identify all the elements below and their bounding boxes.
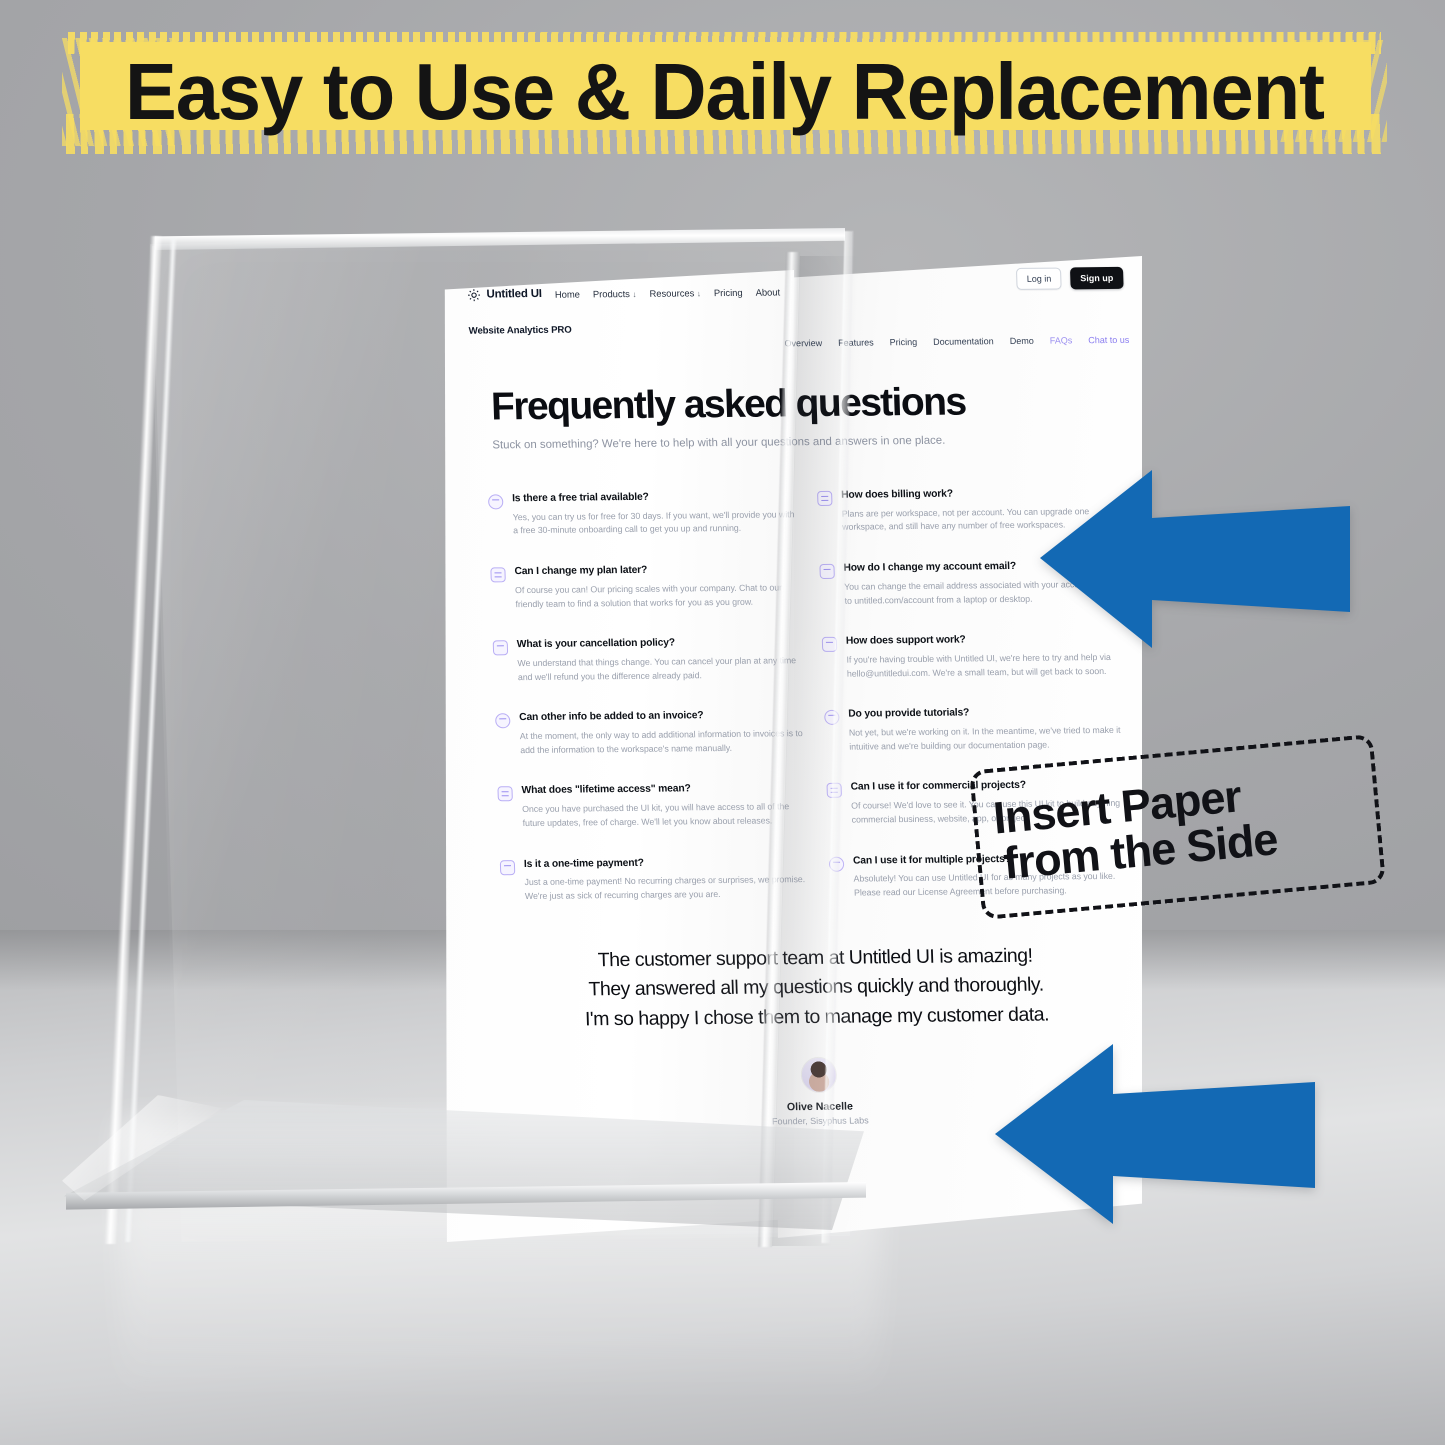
blue-arrow-left-top: [1040, 460, 1350, 650]
faq-item[interactable]: Can other info be added to an invoice? A…: [495, 709, 804, 757]
faq-item[interactable]: What is your cancellation policy? We und…: [493, 636, 802, 684]
smiley-icon: [488, 494, 503, 509]
faq-question: Can I change my plan later?: [514, 563, 797, 579]
faq-item[interactable]: Is there a free trial available? Yes, yo…: [488, 490, 797, 538]
faq-answer: At the moment, the only way to add addit…: [520, 727, 804, 757]
brand-logo[interactable]: Untitled UI: [467, 287, 542, 301]
nav-item-pricing[interactable]: Pricing: [714, 286, 743, 297]
nav-item-about[interactable]: About: [755, 286, 780, 297]
sparkle-icon: [497, 787, 512, 802]
credit-card-icon: [493, 640, 508, 655]
faq-answer: Of course you can! Our pricing scales wi…: [515, 581, 799, 611]
wallet-icon: [500, 860, 515, 875]
faq-item[interactable]: Do you provide tutorials? Not yet, but w…: [824, 706, 1133, 754]
testimonial-line-3: I'm so happy I chose them to manage my c…: [476, 999, 1157, 1035]
faq-column-left: Is there a free trial available? Yes, yo…: [488, 490, 809, 932]
mail-icon: [819, 564, 834, 579]
page-title: Frequently asked questions: [490, 381, 966, 430]
faq-answer: We understand that things change. You ca…: [517, 654, 801, 684]
faq-answer: Once you have purchased the UI kit, you …: [522, 800, 806, 830]
login-button[interactable]: Log in: [1016, 268, 1061, 290]
subnav-item-pricing[interactable]: Pricing: [889, 337, 917, 347]
auth-buttons: Log in Sign up: [1016, 267, 1123, 290]
faq-question: Can other info be added to an invoice?: [519, 709, 802, 725]
chevron-down-icon: ↓: [697, 289, 701, 298]
faq-item[interactable]: What does "lifetime access" mean? Once y…: [497, 783, 806, 831]
user-plus-icon: [495, 714, 510, 729]
faq-question: What is your cancellation policy?: [517, 636, 800, 652]
faq-question: Is it a one-time payment?: [524, 856, 807, 872]
subnav-item-documentation[interactable]: Documentation: [933, 336, 994, 347]
subnav-item-faqs[interactable]: FAQs: [1050, 335, 1073, 345]
faq-question: Do you provide tutorials?: [848, 706, 1131, 722]
subnav-item-chat[interactable]: Chat to us: [1088, 335, 1129, 345]
product-kicker: Website Analytics PRO: [469, 325, 572, 337]
brand-name: Untitled UI: [486, 288, 542, 301]
billing-card-icon: [817, 491, 832, 506]
nav-item-home[interactable]: Home: [555, 288, 580, 299]
blue-arrow-left-bottom: [995, 1038, 1315, 1228]
faq-answer: Yes, you can try us for free for 30 days…: [513, 508, 797, 538]
nav-item-resources[interactable]: Resources ↓: [649, 287, 701, 299]
subnav-item-demo[interactable]: Demo: [1010, 336, 1034, 346]
faq-item[interactable]: Is it a one-time payment? Just a one-tim…: [500, 856, 809, 904]
signup-button[interactable]: Sign up: [1070, 267, 1124, 290]
subnav-item-overview[interactable]: Overview: [784, 338, 822, 348]
gear-sun-icon: [467, 288, 480, 301]
page-subtitle: Stuck on something? We're here to help w…: [492, 435, 945, 452]
faq-question: Is there a free trial available?: [512, 490, 795, 506]
faq-question: What does "lifetime access" mean?: [521, 783, 804, 799]
faq-answer: If you're having trouble with Untitled U…: [846, 651, 1130, 681]
acrylic-sign-holder: Untitled UI Home Products ↓ Resources ↓ …: [0, 0, 1445, 1445]
server-stack-icon: [490, 567, 505, 582]
nav-item-products[interactable]: Products ↓: [593, 287, 637, 298]
faq-answer: Not yet, but we're working on it. In the…: [849, 724, 1133, 754]
faq-answer: Just a one-time payment! No recurring ch…: [524, 873, 808, 903]
section-subnav: Overview Features Pricing Documentation …: [784, 335, 1129, 349]
faq-item[interactable]: Can I change my plan later? Of course yo…: [490, 563, 799, 611]
chevron-down-icon: ↓: [632, 289, 636, 298]
